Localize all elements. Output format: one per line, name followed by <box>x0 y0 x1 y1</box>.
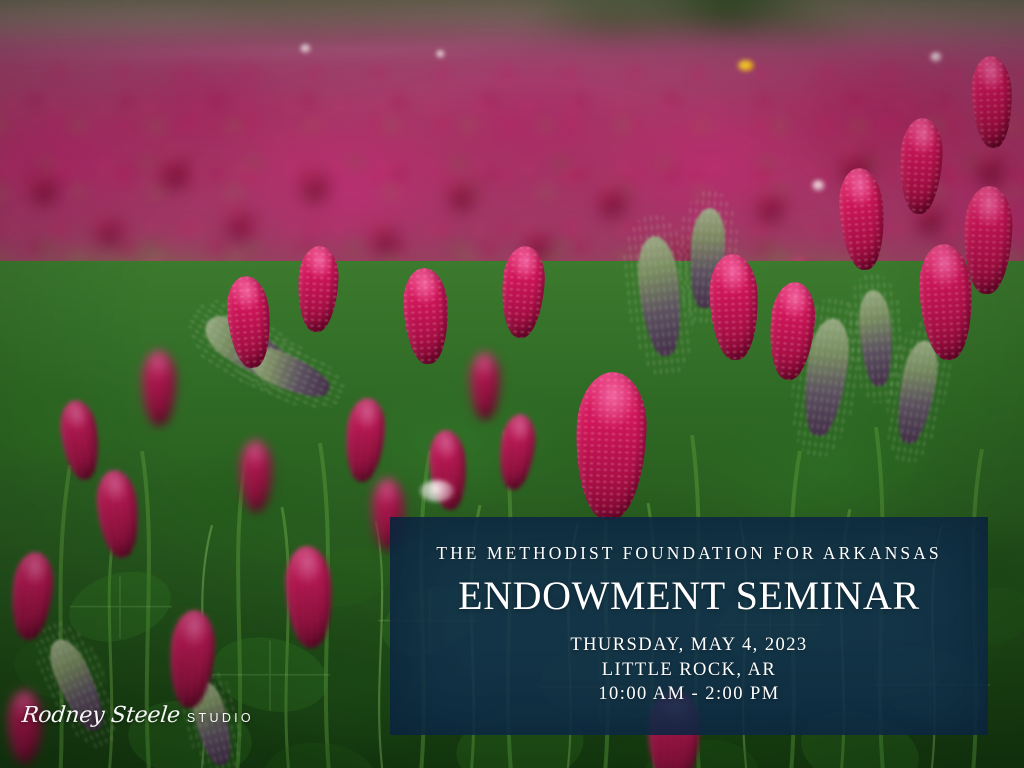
organization-name: THE METHODIST FOUNDATION FOR ARKANSAS <box>436 543 941 564</box>
event-location: LITTLE ROCK, AR <box>570 658 807 683</box>
watermark-name: Rodney Steele <box>21 703 182 728</box>
watermark-studio: STUDIO <box>187 711 254 725</box>
event-info-panel: THE METHODIST FOUNDATION FOR ARKANSAS EN… <box>390 517 988 735</box>
hero-bloom <box>573 371 648 521</box>
event-date: THURSDAY, MAY 4, 2023 <box>570 633 807 658</box>
event-details: THURSDAY, MAY 4, 2023 LITTLE ROCK, AR 10… <box>570 633 807 707</box>
pale-wildflower <box>420 480 454 502</box>
event-graphic: THE METHODIST FOUNDATION FOR ARKANSAS EN… <box>0 0 1024 768</box>
event-time: 10:00 AM - 2:00 PM <box>570 682 807 707</box>
event-title: ENDOWMENT SEMINAR <box>458 576 920 616</box>
photographer-watermark: Rodney Steele STUDIO <box>22 703 254 728</box>
